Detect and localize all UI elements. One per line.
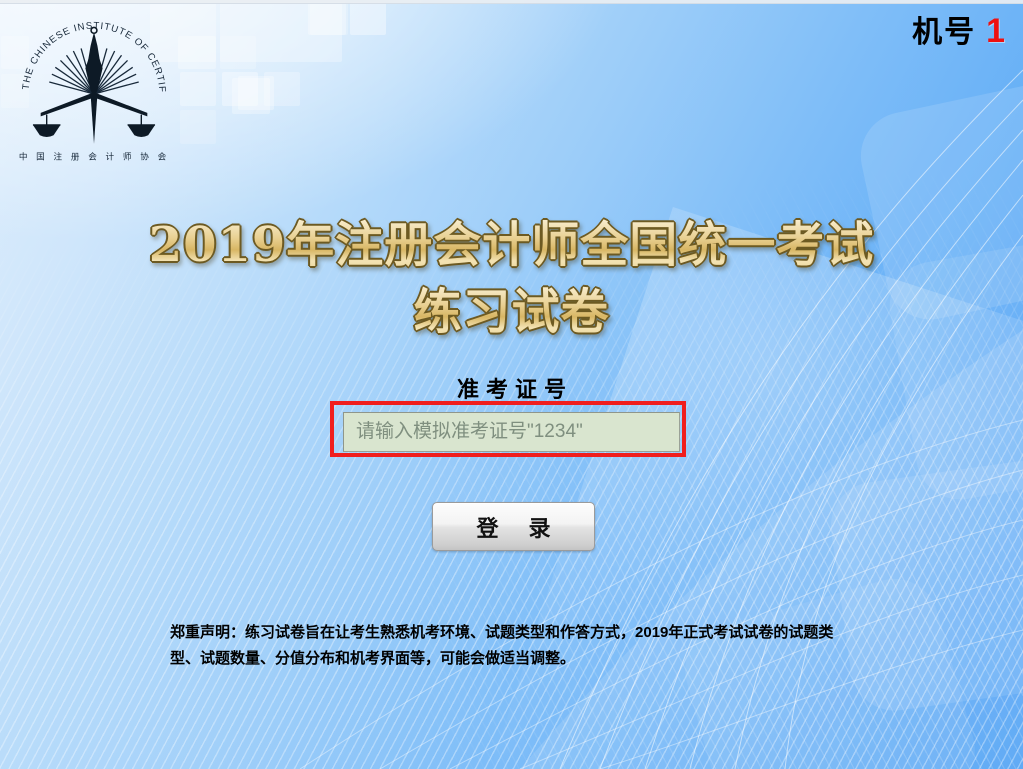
machine-number-value: 1 xyxy=(986,12,1007,50)
window-top-edge xyxy=(0,0,1023,4)
login-button[interactable]: 登 录 xyxy=(432,502,595,551)
machine-number-label: 机号 xyxy=(912,16,976,49)
svg-text:中 国 注 册 会 计 师 协 会: 中 国 注 册 会 计 师 协 会 xyxy=(19,150,169,162)
login-screen: THE CHINESE INSTITUTE OF CERTIFIED PUBLI… xyxy=(0,0,1023,769)
ticket-number-label: 准考证号 xyxy=(0,372,1023,404)
ticket-number-input[interactable] xyxy=(343,412,680,452)
disclaimer-text: 郑重声明：练习试卷旨在让考生熟悉机考环境、试题类型和作答方式，2019年正式考试… xyxy=(170,620,860,672)
exam-title-line2: 练习试卷 xyxy=(0,272,1023,342)
cicpa-logo: THE CHINESE INSTITUTE OF CERTIFIED PUBLI… xyxy=(8,8,180,180)
exam-title-line1: 2019年注册会计师全国统一考试 xyxy=(0,205,1023,275)
machine-number: 机号1 xyxy=(912,14,1007,48)
